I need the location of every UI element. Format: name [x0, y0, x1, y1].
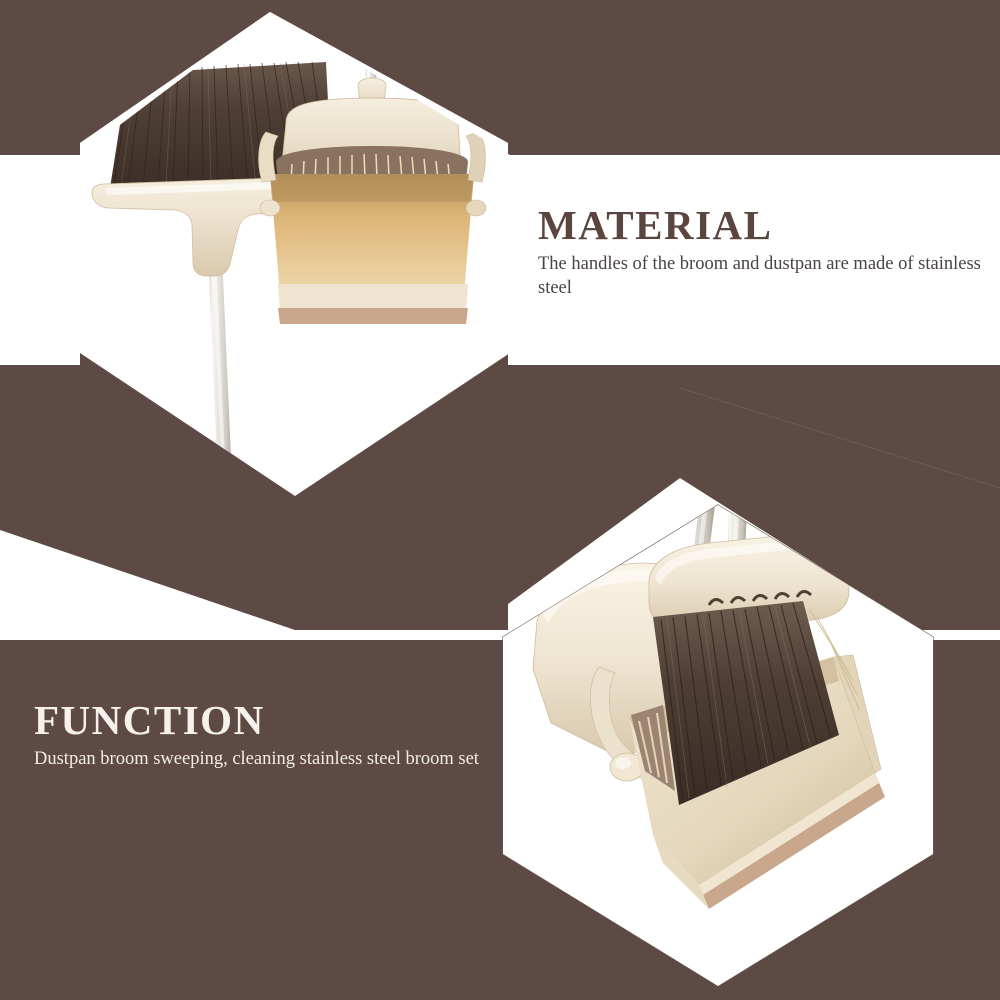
function-section: FUNCTION Dustpan broom sweeping, cleanin…	[34, 700, 504, 771]
function-heading: FUNCTION	[34, 700, 504, 741]
material-body: The handles of the broom and dustpan are…	[538, 252, 988, 301]
material-section: MATERIAL The handles of the broom and du…	[538, 205, 988, 301]
function-body: Dustpan broom sweeping, cleaning stainle…	[34, 747, 504, 771]
product-infographic: MATERIAL The handles of the broom and du…	[0, 0, 1000, 1000]
material-heading: MATERIAL	[538, 205, 988, 246]
